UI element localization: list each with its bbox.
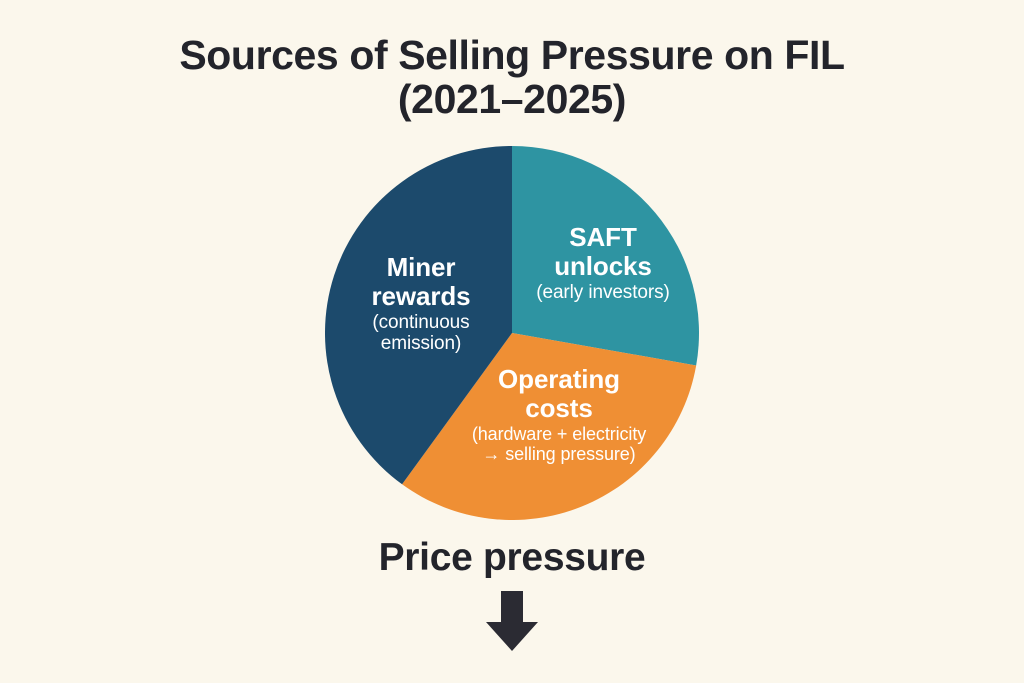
arrow-down-icon — [486, 591, 538, 651]
chart-title-line-1: Sources of Selling Pressure on FIL — [0, 33, 1024, 77]
chart-title: Sources of Selling Pressure on FIL (2021… — [0, 33, 1024, 122]
pie-chart — [325, 146, 699, 520]
pie-slice-saft-unlocks[interactable] — [512, 146, 699, 365]
chart-title-line-2: (2021–2025) — [0, 77, 1024, 121]
price-pressure-label: Price pressure — [379, 536, 646, 579]
arrow-down-icon-svg — [486, 591, 538, 651]
footer-caption: Price pressure — [0, 538, 1024, 577]
pie-chart-svg — [325, 146, 699, 520]
figure-canvas: Sources of Selling Pressure on FIL (2021… — [0, 0, 1024, 683]
